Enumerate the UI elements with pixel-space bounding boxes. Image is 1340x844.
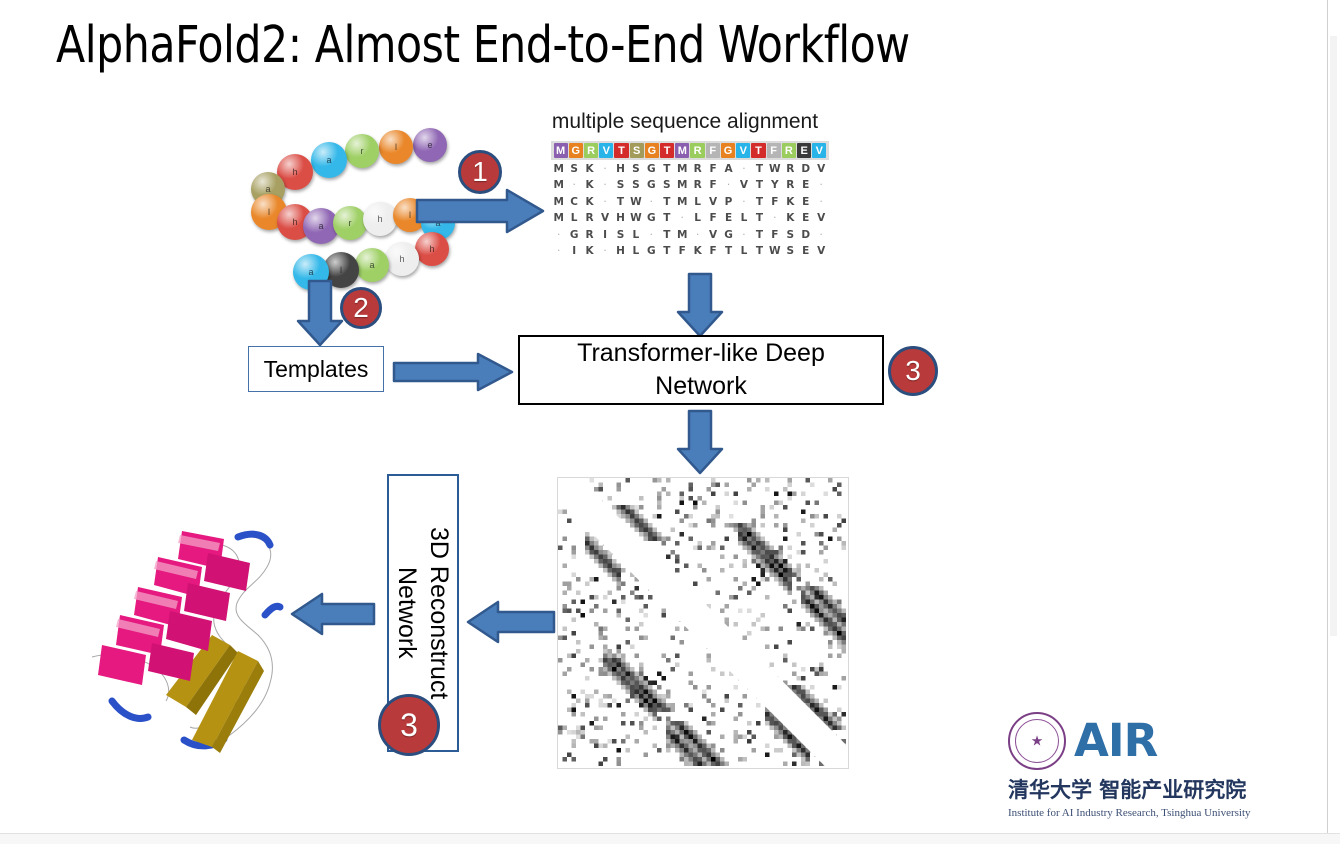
- msa-cell: G: [644, 179, 659, 191]
- residue-bead: r: [345, 134, 379, 168]
- contact-map-svg: [558, 478, 846, 766]
- msa-cell: M: [551, 179, 566, 191]
- msa-cell: D: [798, 163, 813, 175]
- msa-cell: ·: [736, 229, 751, 241]
- msa-cell: ·: [813, 196, 828, 208]
- msa-row: MLRVHWGT·LFELT·KEV: [551, 211, 829, 227]
- msa-cell: F: [675, 245, 690, 257]
- msa-cell: S: [628, 179, 643, 191]
- msa-row: MSK·HSGTMRFA·TWRDV: [551, 161, 829, 177]
- msa-cell: K: [690, 245, 705, 257]
- msa-cell: T: [752, 245, 767, 257]
- msa-cell: T: [721, 245, 736, 257]
- msa-query-cell-4: T: [614, 143, 628, 158]
- msa-cell: T: [659, 245, 674, 257]
- msa-cell: ·: [721, 179, 736, 191]
- msa-cell: S: [628, 163, 643, 175]
- msa-cell: L: [736, 212, 751, 224]
- msa-cell: ·: [597, 245, 612, 257]
- msa-cell: K: [582, 245, 597, 257]
- msa-query-cell-3: V: [599, 143, 613, 158]
- msa-cell: R: [690, 163, 705, 175]
- contact-map-image: [557, 477, 849, 769]
- msa-query-cell-11: G: [721, 143, 735, 158]
- air-logo: ★ AIR 清华大学 智能产业研究院 Institute for AI Indu…: [1008, 712, 1308, 822]
- msa-cell: T: [659, 229, 674, 241]
- msa-cell: G: [566, 229, 581, 241]
- msa-cell: R: [582, 229, 597, 241]
- msa-cell: T: [659, 212, 674, 224]
- msa-row: MCK·TW·TMLVP·TFKE·: [551, 194, 829, 210]
- msa-cell: E: [798, 212, 813, 224]
- msa-cell: A: [721, 163, 736, 175]
- msa-cell: K: [582, 196, 597, 208]
- msa-cell: K: [582, 179, 597, 191]
- msa-query-cell-12: V: [736, 143, 750, 158]
- msa-cell: H: [613, 245, 628, 257]
- msa-cell: V: [597, 212, 612, 224]
- msa-cell: S: [613, 179, 628, 191]
- msa-row: ·IK·HLGTFKFTLTWSEV: [551, 244, 829, 260]
- msa-cell: ·: [690, 229, 705, 241]
- msa-query-cell-14: F: [767, 143, 781, 158]
- step-circle-3: 3: [888, 346, 938, 396]
- msa-query-cell-5: S: [630, 143, 644, 158]
- msa-cell: F: [705, 212, 720, 224]
- logo-english-name: Institute for AI Industry Research, Tsin…: [1008, 807, 1308, 819]
- scrollbar-thumb[interactable]: [1330, 36, 1337, 636]
- msa-cell: E: [798, 245, 813, 257]
- msa-cell: ·: [813, 229, 828, 241]
- msa-cell: S: [566, 163, 581, 175]
- msa-cell: ·: [644, 196, 659, 208]
- msa-query-cell-17: V: [812, 143, 826, 158]
- msa-cell: H: [613, 163, 628, 175]
- msa-cell: T: [752, 163, 767, 175]
- msa-cell: ·: [597, 179, 612, 191]
- msa-cell: L: [628, 245, 643, 257]
- residue-bead: r: [333, 206, 367, 240]
- msa-cell: E: [798, 179, 813, 191]
- arrow-reconstruct-to-structure: [290, 592, 376, 636]
- msa-cell: D: [798, 229, 813, 241]
- templates-box[interactable]: Templates: [248, 346, 384, 392]
- step-circle-2: 2: [340, 287, 382, 329]
- msa-cell: G: [644, 212, 659, 224]
- msa-cell: Y: [767, 179, 782, 191]
- msa-cell: R: [783, 179, 798, 191]
- msa-title: multiple sequence alignment: [520, 110, 850, 134]
- msa-cell: M: [675, 229, 690, 241]
- msa-cell: T: [752, 229, 767, 241]
- msa-cell: ·: [597, 163, 612, 175]
- msa-cell: V: [736, 179, 751, 191]
- msa-cell: H: [613, 212, 628, 224]
- residue-bead: l: [379, 130, 413, 164]
- arrow-sequence-to-templates: [296, 279, 344, 347]
- step-circle-3-label: 3: [905, 355, 921, 387]
- msa-cell: S: [659, 179, 674, 191]
- msa-cell: ·: [551, 229, 566, 241]
- transformer-box-line2: Network: [655, 370, 747, 403]
- msa-cell: M: [675, 179, 690, 191]
- residue-bead: h: [363, 202, 397, 236]
- msa-cell: ·: [736, 163, 751, 175]
- logo-chinese-name: 清华大学 智能产业研究院: [1008, 774, 1308, 804]
- residue-bead: a: [355, 248, 389, 282]
- step-circle-2-label: 2: [353, 292, 369, 324]
- msa-cell: W: [628, 212, 643, 224]
- msa-cell: L: [628, 229, 643, 241]
- msa-cell: ·: [675, 212, 690, 224]
- msa-query-cell-10: F: [706, 143, 720, 158]
- vertical-scrollbar[interactable]: [1327, 0, 1340, 844]
- templates-box-label: Templates: [264, 356, 369, 383]
- msa-cell: I: [566, 245, 581, 257]
- msa-alignment-rows: MSK·HSGTMRFA·TWRDVM·K·SSGSMRF·VTYRE·MCK·…: [520, 161, 850, 259]
- msa-cell: S: [783, 245, 798, 257]
- msa-cell: ·: [597, 196, 612, 208]
- msa-row: M·K·SSGSMRF·VTYRE·: [551, 178, 829, 194]
- msa-cell: C: [566, 196, 581, 208]
- residue-bead: e: [413, 128, 447, 162]
- msa-cell: T: [659, 196, 674, 208]
- msa-cell: L: [736, 245, 751, 257]
- msa-cell: ·: [551, 245, 566, 257]
- msa-cell: F: [767, 196, 782, 208]
- msa-cell: F: [705, 179, 720, 191]
- step-circle-4-label: 3: [400, 707, 418, 744]
- msa-cell: E: [798, 196, 813, 208]
- arrow-templates-to-transformer: [392, 352, 514, 392]
- msa-cell: W: [767, 245, 782, 257]
- msa-cell: V: [705, 196, 720, 208]
- msa-row: ·GRISL·TM·VG·TFSD·: [551, 227, 829, 243]
- msa-cell: T: [752, 212, 767, 224]
- transformer-network-box[interactable]: Transformer-like Deep Network: [518, 335, 884, 405]
- arrow-transformer-to-contactmap: [676, 409, 724, 475]
- msa-cell: T: [659, 163, 674, 175]
- msa-cell: T: [752, 179, 767, 191]
- msa-cell: F: [705, 163, 720, 175]
- msa-cell: R: [582, 212, 597, 224]
- msa-query-row: MGRVTSGTMRFGVTFREV: [551, 141, 829, 160]
- msa-cell: L: [690, 212, 705, 224]
- msa-cell: ·: [767, 212, 782, 224]
- msa-cell: K: [783, 212, 798, 224]
- msa-query-cell-9: R: [690, 143, 704, 158]
- msa-cell: K: [582, 163, 597, 175]
- msa-cell: M: [551, 196, 566, 208]
- msa-cell: S: [783, 229, 798, 241]
- msa-cell: G: [644, 245, 659, 257]
- msa-cell: ·: [644, 229, 659, 241]
- msa-cell: M: [551, 163, 566, 175]
- msa-cell: ·: [566, 179, 581, 191]
- msa-cell: T: [613, 196, 628, 208]
- msa-cell: W: [628, 196, 643, 208]
- air-wordmark: AIR: [1074, 717, 1157, 765]
- msa-cell: G: [721, 229, 736, 241]
- msa-cell: P: [721, 196, 736, 208]
- msa-panel: multiple sequence alignment MGRVTSGTMRFG…: [520, 110, 850, 259]
- msa-cell: G: [644, 163, 659, 175]
- msa-query-cell-13: T: [751, 143, 765, 158]
- msa-query-cell-1: G: [569, 143, 583, 158]
- msa-cell: L: [690, 196, 705, 208]
- msa-cell: R: [690, 179, 705, 191]
- residue-bead: h: [385, 242, 419, 276]
- step-circle-1-label: 1: [472, 156, 488, 188]
- msa-cell: T: [752, 196, 767, 208]
- window-bottom-edge: [0, 833, 1340, 844]
- msa-query-cell-2: R: [584, 143, 598, 158]
- msa-query-cell-15: R: [782, 143, 796, 158]
- slide-canvas: AlphaFold2: Almost End-to-End Workflow e…: [0, 0, 1328, 834]
- arrow-sequence-to-msa: [415, 188, 545, 234]
- msa-cell: I: [597, 229, 612, 241]
- transformer-box-line1: Transformer-like Deep: [577, 337, 825, 370]
- msa-cell: F: [705, 245, 720, 257]
- msa-cell: L: [566, 212, 581, 224]
- star-icon: ★: [1031, 733, 1044, 750]
- msa-cell: M: [551, 212, 566, 224]
- reconstruct-box-label: 3D Reconstruct Network: [391, 527, 455, 699]
- msa-cell: ·: [736, 196, 751, 208]
- msa-cell: K: [783, 196, 798, 208]
- step-circle-1: 1: [458, 150, 502, 194]
- msa-query-cell-0: M: [554, 143, 568, 158]
- msa-cell: M: [675, 163, 690, 175]
- msa-query-cell-6: G: [645, 143, 659, 158]
- msa-cell: W: [767, 163, 782, 175]
- msa-query-cell-7: T: [660, 143, 674, 158]
- msa-cell: E: [721, 212, 736, 224]
- msa-cell: M: [675, 196, 690, 208]
- msa-query-cell-8: M: [675, 143, 689, 158]
- msa-cell: V: [813, 212, 828, 224]
- msa-cell: V: [813, 163, 828, 175]
- msa-cell: V: [813, 245, 828, 257]
- msa-cell: S: [613, 229, 628, 241]
- step-circle-4: 3: [378, 694, 440, 756]
- arrow-contactmap-to-reconstruct: [466, 600, 556, 644]
- msa-query-cell-16: E: [797, 143, 811, 158]
- tsinghua-seal-icon: ★: [1008, 712, 1066, 770]
- msa-cell: F: [767, 229, 782, 241]
- msa-cell: ·: [813, 179, 828, 191]
- msa-cell: V: [705, 229, 720, 241]
- arrow-msa-to-transformer: [676, 272, 724, 338]
- msa-cell: R: [783, 163, 798, 175]
- page-title: AlphaFold2: Almost End-to-End Workflow: [56, 14, 910, 78]
- residue-bead: a: [311, 142, 347, 178]
- residue-bead: h: [415, 232, 449, 266]
